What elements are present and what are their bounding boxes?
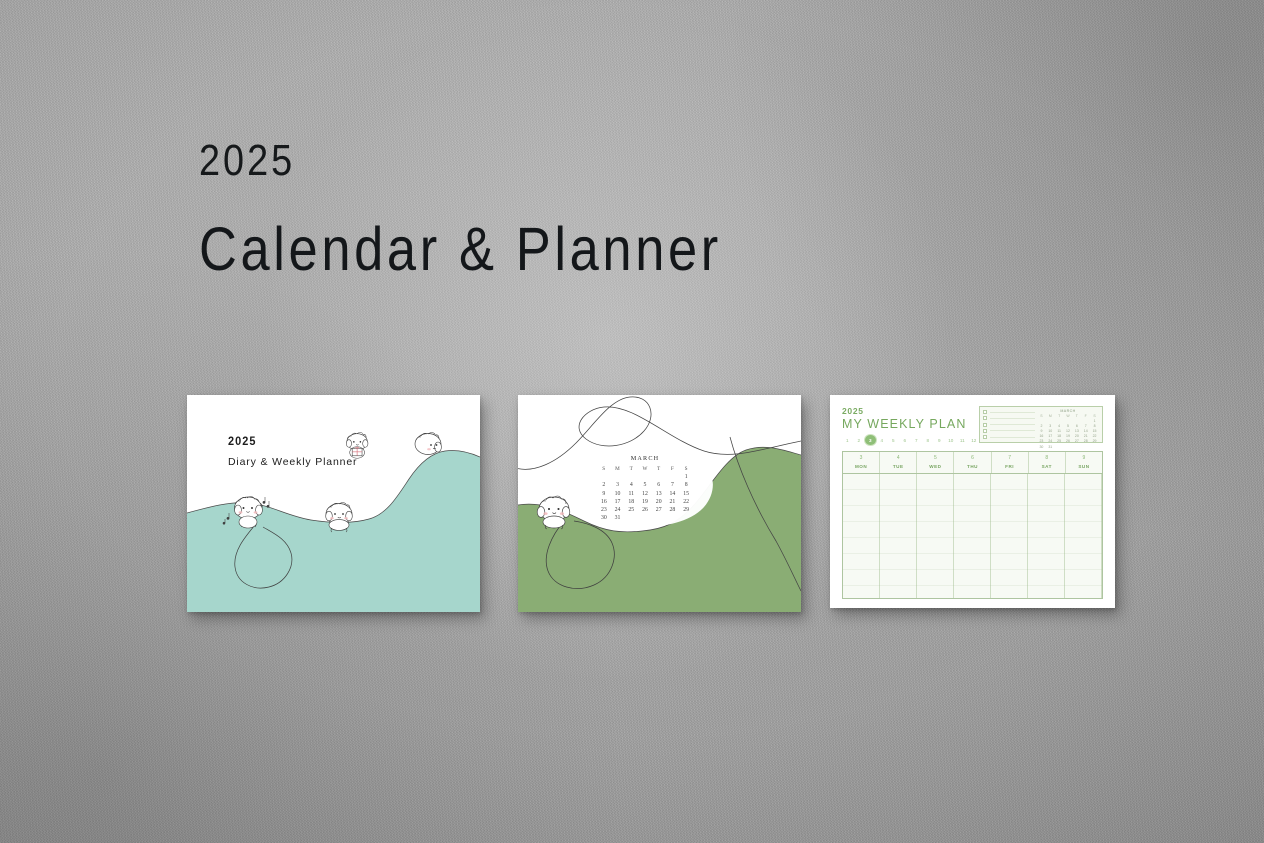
- checkbox-icon[interactable]: [983, 429, 987, 433]
- day-header-sun[interactable]: 9SUN: [1066, 452, 1102, 473]
- calendar-day-cell: 7: [666, 481, 680, 489]
- calendar-blank-cell: [638, 473, 652, 481]
- calendar-weekday-header: W: [638, 465, 652, 473]
- day-header-fri[interactable]: 7FRI: [992, 452, 1029, 473]
- mini-calendar-day-cell: 29: [1090, 439, 1099, 444]
- month-option-2[interactable]: 2: [854, 435, 865, 445]
- memo-write-line[interactable]: [990, 430, 1035, 431]
- day-header-mon[interactable]: 3MON: [843, 452, 880, 473]
- calendar-day-cell: 22: [679, 498, 693, 506]
- day-date: 3: [843, 455, 879, 462]
- calendar-day-cell: 18: [624, 498, 638, 506]
- calendar-day-cell: 9: [597, 490, 611, 498]
- mini-calendar-day-cell: 30: [1037, 445, 1046, 450]
- calendar-day-cell: 5: [638, 481, 652, 489]
- checkbox-icon[interactable]: [983, 410, 987, 414]
- calendar-day-cell: 8: [679, 481, 693, 489]
- calendar-weekday-header: T: [652, 465, 666, 473]
- cover-illustration: [187, 395, 480, 612]
- calendar-day-cell: 1: [679, 473, 693, 481]
- calendar-blank-cell: [652, 473, 666, 481]
- day-column-fri[interactable]: [991, 474, 1028, 599]
- calendar-weekday-header: S: [597, 465, 611, 473]
- month-option-9[interactable]: 9: [934, 435, 945, 445]
- memo-row[interactable]: [983, 423, 1035, 427]
- calendar-weekday-header: F: [666, 465, 680, 473]
- memo-and-mini-calendar-box[interactable]: MARCH SMTWTFS 12345678910111213141516171…: [979, 406, 1103, 443]
- memo-write-line[interactable]: [990, 424, 1035, 425]
- calendar-blank-cell: [597, 473, 611, 481]
- calendar-weekday-header: M: [611, 465, 625, 473]
- month-option-7[interactable]: 7: [911, 435, 922, 445]
- day-name: THU: [954, 463, 990, 470]
- day-name: WED: [917, 463, 953, 470]
- calendar-blank-cell: [666, 473, 680, 481]
- month-option-3[interactable]: 3: [865, 435, 876, 445]
- mini-calendar-day-cell: 27: [1072, 439, 1081, 444]
- calendar-blank-cell: [624, 473, 638, 481]
- march-calendar: MARCH SMTWTFS 12345678910111213141516171…: [597, 455, 693, 522]
- headline-year: 2025: [199, 136, 722, 186]
- calendar-day-cell: 17: [611, 498, 625, 506]
- day-column-sat[interactable]: [1028, 474, 1065, 599]
- day-header-wed[interactable]: 5WED: [917, 452, 954, 473]
- cover-subtitle: Diary & Weekly Planner: [228, 455, 357, 469]
- calendar-day-cell: 21: [666, 498, 680, 506]
- checkbox-icon[interactable]: [983, 435, 987, 439]
- calendar-day-cell: 19: [638, 498, 652, 506]
- calendar-day-cell: 14: [666, 490, 680, 498]
- weekly-grid[interactable]: 3MON4TUE5WED6THU7FRI8SAT9SUN: [842, 451, 1103, 599]
- day-name: FRI: [992, 463, 1028, 470]
- calendar-day-cell: 24: [611, 506, 625, 514]
- month-option-10[interactable]: 10: [946, 435, 957, 445]
- memo-write-line[interactable]: [990, 412, 1035, 413]
- calendar-day-cell: 13: [652, 490, 666, 498]
- day-header-tue[interactable]: 4TUE: [880, 452, 917, 473]
- day-header-sat[interactable]: 8SAT: [1029, 452, 1066, 473]
- month-option-12[interactable]: 12: [969, 435, 980, 445]
- memo-row[interactable]: [983, 435, 1035, 439]
- day-column-mon[interactable]: [843, 474, 880, 599]
- memo-checkbox-list[interactable]: [983, 409, 1035, 440]
- day-name: MON: [843, 463, 879, 470]
- calendar-day-cell: 11: [624, 490, 638, 498]
- day-column-sun[interactable]: [1065, 474, 1102, 599]
- calendar-day-cell: 4: [624, 481, 638, 489]
- memo-row[interactable]: [983, 410, 1035, 414]
- day-column-thu[interactable]: [954, 474, 991, 599]
- mini-calendar-day-cell: 26: [1064, 439, 1073, 444]
- calendar-day-cell: 30: [597, 514, 611, 522]
- headline-title: Calendar & Planner: [199, 212, 722, 286]
- calendar-day-cell: 31: [611, 514, 625, 522]
- calendar-day-cell: 16: [597, 498, 611, 506]
- cover-year: 2025: [228, 435, 351, 449]
- memo-row[interactable]: [983, 429, 1035, 433]
- weekly-header: 2025 MY WEEKLY PLAN 123456789101112: [842, 406, 979, 445]
- month-option-11[interactable]: 11: [957, 435, 968, 445]
- memo-write-line[interactable]: [990, 418, 1035, 419]
- weekly-planner-card[interactable]: 2025 MY WEEKLY PLAN 123456789101112 MARC…: [830, 395, 1115, 608]
- day-column-wed[interactable]: [917, 474, 954, 599]
- calendar-day-cell: 12: [638, 490, 652, 498]
- calendar-day-cell: 3: [611, 481, 625, 489]
- page-title: 2025 Calendar & Planner: [199, 136, 807, 286]
- day-name: TUE: [880, 463, 916, 470]
- calendar-day-cell: 10: [611, 490, 625, 498]
- calendar-weekday-header: T: [624, 465, 638, 473]
- weekly-day-headers: 3MON4TUE5WED6THU7FRI8SAT9SUN: [843, 452, 1102, 474]
- calendar-day-cell: 27: [652, 506, 666, 514]
- day-header-thu[interactable]: 6THU: [954, 452, 991, 473]
- month-option-6[interactable]: 6: [900, 435, 911, 445]
- month-option-8[interactable]: 8: [923, 435, 934, 445]
- weekly-year: 2025: [842, 406, 979, 416]
- calendar-grid: SMTWTFS 12345678910111213141516171819202…: [597, 465, 693, 522]
- calendar-day-cell: 2: [597, 481, 611, 489]
- mini-calendar-day-cell: 31: [1046, 445, 1055, 450]
- calendar-day-cell: 6: [652, 481, 666, 489]
- checkbox-icon[interactable]: [983, 416, 987, 420]
- mini-calendar: MARCH SMTWTFS 12345678910111213141516171…: [1037, 409, 1099, 440]
- day-name: SAT: [1029, 463, 1065, 470]
- calendar-day-cell: 23: [597, 506, 611, 514]
- calendar-weekday-header: S: [679, 465, 693, 473]
- mini-calendar-day-cell: 28: [1081, 439, 1090, 444]
- month-selector[interactable]: 123456789101112: [842, 435, 979, 445]
- day-column-tue[interactable]: [880, 474, 917, 599]
- calendar-day-cell: 28: [666, 506, 680, 514]
- month-option-4[interactable]: 4: [877, 435, 888, 445]
- mini-calendar-grid: SMTWTFS 12345678910111213141516171819202…: [1037, 414, 1099, 450]
- calendar-day-cell: 15: [679, 490, 693, 498]
- calendar-day-cell: 26: [638, 506, 652, 514]
- day-name: SUN: [1066, 463, 1102, 470]
- calendar-blank-cell: [611, 473, 625, 481]
- calendar-day-cell: 29: [679, 506, 693, 514]
- day-date: 6: [954, 455, 990, 462]
- checkbox-icon[interactable]: [983, 423, 987, 427]
- day-date: 7: [992, 455, 1028, 462]
- month-card[interactable]: MARCH SMTWTFS 12345678910111213141516171…: [518, 395, 801, 612]
- day-date: 8: [1029, 455, 1065, 462]
- day-date: 5: [917, 455, 953, 462]
- month-option-1[interactable]: 1: [842, 435, 853, 445]
- calendar-day-cell: 20: [652, 498, 666, 506]
- cover-card[interactable]: 2025 Diary & Weekly Planner: [187, 395, 480, 612]
- day-date: 4: [880, 455, 916, 462]
- weekly-entry-area[interactable]: [843, 474, 1102, 599]
- memo-write-line[interactable]: [990, 437, 1035, 438]
- weekly-title: MY WEEKLY PLAN: [842, 417, 979, 432]
- mini-calendar-day-cell: 25: [1055, 439, 1064, 444]
- day-date: 9: [1066, 455, 1102, 462]
- month-option-5[interactable]: 5: [888, 435, 899, 445]
- memo-row[interactable]: [983, 416, 1035, 420]
- calendar-month-label: MARCH: [597, 455, 693, 462]
- calendar-day-cell: 25: [624, 506, 638, 514]
- cover-title-block: 2025 Diary & Weekly Planner: [228, 435, 357, 469]
